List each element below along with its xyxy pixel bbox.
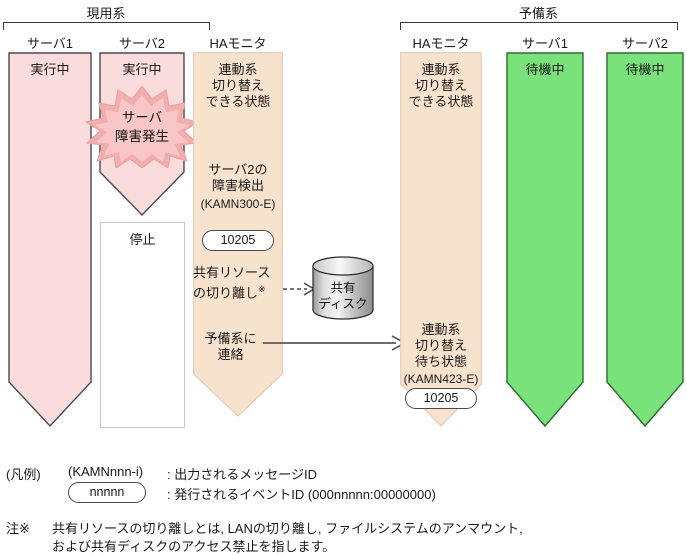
lane-active-server1-shape: [8, 52, 92, 428]
active-hamonitor-detect-msgid: (KAMN300-E): [193, 196, 283, 212]
column-caption-standby-server1: サーバ1: [506, 33, 584, 52]
state-standby-hamonitor-switchable: 連動系 切り替え できる状態: [400, 62, 482, 110]
note-line1: 共有リソースの切り離しとは, LANの切り離し, ファイルシステムのアンマウント…: [52, 518, 523, 537]
shared-disk-line2: ディスク: [318, 296, 367, 312]
legend-eventid-desc: : 発行されるイベントID (000nnnnn:00000000): [167, 484, 436, 503]
column-caption-active-server1: サーバ1: [8, 33, 92, 52]
column-caption-standby-server2: サーバ2: [606, 33, 684, 52]
active-hamonitor-detect-text: サーバ2の 障害検出: [193, 162, 283, 194]
group-label-standby: 予備系: [400, 3, 677, 22]
standby-hamonitor-wait-msgid: (KAMN423-E): [398, 371, 484, 387]
standby-hamonitor-wait-eventid: 10205: [405, 388, 477, 409]
active-hamonitor-release-text: 共有リソース の切り離し※: [188, 265, 286, 301]
state-standby-server2: 待機中: [606, 62, 684, 78]
note-line2: および共有ディスクのアクセス禁止を指します。: [52, 536, 335, 555]
group-label-active: 現用系: [3, 3, 209, 22]
diagram-canvas: 現用系 予備系 サーバ1 サーバ2 HAモニタ HAモニタ サーバ1 サーバ2 …: [0, 0, 687, 551]
failure-starburst-label: サーバ 障害発生: [84, 86, 200, 168]
state-active-server1: 実行中: [8, 62, 92, 78]
failure-text-line1: サーバ: [122, 108, 162, 127]
state-active-server2-stopped: 停止: [100, 232, 185, 248]
active-hamonitor-notify-text: 予備系に 連絡: [193, 331, 268, 363]
lane-standby-server1-shape: [506, 52, 584, 428]
lane-standby-server1: [506, 52, 584, 428]
release-text-body: 共有リソース の切り離し: [193, 265, 270, 300]
failure-text-line2: 障害発生: [115, 127, 169, 146]
shared-disk-line1: 共有: [330, 280, 355, 296]
active-hamonitor-detect-eventid: 10205: [202, 230, 274, 251]
lane-standby-server2-shape: [606, 52, 684, 428]
state-standby-server1: 待機中: [506, 62, 584, 78]
legend-msgid-desc: : 出力されるメッセージID: [167, 464, 317, 483]
lane-active-server1: [8, 52, 92, 428]
column-caption-standby-hamonitor: HAモニタ: [400, 33, 482, 52]
state-standby-hamonitor-waiting: 連動系 切り替え 待ち状態: [400, 322, 482, 370]
state-active-server2-running: 実行中: [99, 62, 185, 78]
legend-eventid-sample: nnnnn: [68, 482, 146, 503]
failure-starburst: サーバ 障害発生: [84, 86, 200, 168]
group-bracket-active: [3, 22, 210, 30]
legend-title: (凡例): [6, 464, 41, 483]
legend-msgid-sample: (KAMNnnn-i): [68, 464, 143, 479]
lane-standby-server2: [606, 52, 684, 428]
release-footnote-marker: ※: [258, 284, 266, 294]
state-active-hamonitor-switchable: 連動系 切り替え できる状態: [193, 62, 283, 110]
column-caption-active-server2: サーバ2: [99, 33, 185, 52]
group-bracket-standby: [400, 22, 678, 30]
column-caption-active-hamonitor: HAモニタ: [193, 33, 283, 52]
shared-disk-label: 共有 ディスク: [312, 256, 374, 328]
solid-arrow-to-standby: [262, 333, 408, 353]
lane-active-server2-stopped-box: [100, 222, 185, 428]
note-marker: 注※: [6, 518, 30, 537]
shared-disk: 共有 ディスク: [312, 256, 374, 320]
